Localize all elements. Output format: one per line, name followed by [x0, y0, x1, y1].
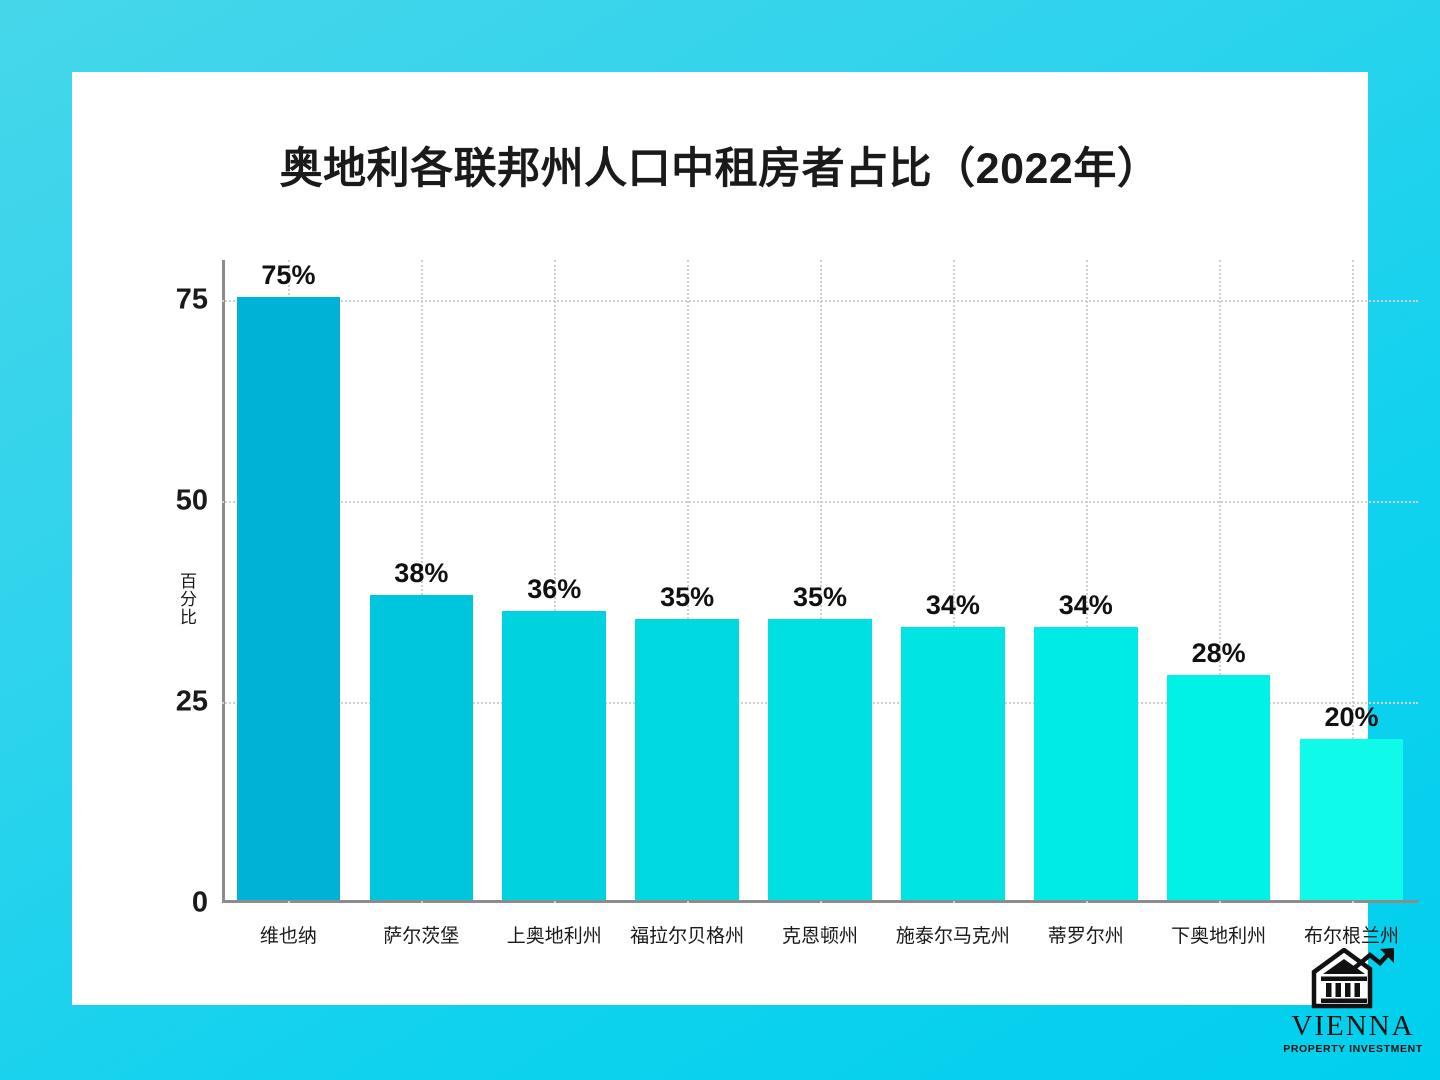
bar-5[interactable]: 35% [768, 619, 872, 900]
bar-value-label: 28% [1145, 638, 1293, 669]
bar-value-label: 38% [348, 558, 496, 589]
y-axis-tick-label: 75 [160, 284, 208, 317]
bar-1[interactable]: 75% [237, 297, 341, 900]
bar-value-label: 36% [480, 574, 628, 605]
x-axis-category-label: 上奥地利州 [488, 921, 621, 948]
page-title: 奥地利各联邦州人口中租房者占比（2022年） [72, 134, 1368, 196]
bar-value-label: 20% [1278, 702, 1426, 733]
bar-8[interactable]: 28% [1167, 675, 1271, 900]
bar-rect[interactable] [1300, 739, 1404, 900]
brand-logo: VIENNA PROPERTY INVESTMENT [1278, 948, 1428, 1060]
y-axis-title: 百分比 [174, 572, 199, 626]
bar-rect[interactable] [1034, 627, 1138, 900]
bar-value-label: 34% [1012, 590, 1160, 621]
bar-4[interactable]: 35% [635, 619, 739, 900]
bank-building-growth-arrow-icon [1310, 948, 1396, 1010]
y-axis-tick-label: 0 [160, 887, 208, 920]
bar-rect[interactable] [635, 619, 739, 900]
bar-9[interactable]: 20% [1300, 739, 1404, 900]
bar-2[interactable]: 38% [370, 595, 474, 900]
bar-6[interactable]: 34% [901, 627, 1005, 900]
x-axis-category-label: 施泰尔马克州 [886, 921, 1019, 948]
bar-value-label: 75% [215, 260, 363, 291]
bar-3[interactable]: 36% [502, 611, 606, 900]
x-axis-category-label: 维也纳 [222, 921, 355, 948]
bar-value-label: 34% [879, 590, 1027, 621]
y-axis-tick-label: 25 [160, 686, 208, 719]
bar-rect[interactable] [370, 595, 474, 900]
x-axis-category-label: 萨尔茨堡 [355, 921, 488, 948]
bar-rect[interactable] [502, 611, 606, 900]
x-axis-category-label: 下奥地利州 [1152, 921, 1285, 948]
y-axis-tick-label: 50 [160, 485, 208, 518]
bar-rect[interactable] [237, 297, 341, 900]
bar-rect[interactable] [1167, 675, 1271, 900]
y-axis-line [222, 260, 225, 903]
x-axis-category-label: 布尔根兰州 [1285, 921, 1418, 948]
chart-card: 奥地利各联邦州人口中租房者占比（2022年） 百分比 0255075 75%38… [72, 72, 1368, 1005]
x-axis-category-label: 克恩顿州 [754, 921, 887, 948]
bar-rect[interactable] [901, 627, 1005, 900]
logo-tagline: PROPERTY INVESTMENT [1278, 1043, 1428, 1055]
x-axis-category-label: 福拉尔贝格州 [621, 921, 754, 948]
bar-7[interactable]: 34% [1034, 627, 1138, 900]
x-axis-category-label: 蒂罗尔州 [1019, 921, 1152, 948]
bar-rect[interactable] [768, 619, 872, 900]
plot-area: 0255075 75%38%36%35%35%34%34%28%20% [222, 260, 1418, 903]
bar-value-label: 35% [746, 582, 894, 613]
logo-wordmark: VIENNA [1278, 1012, 1428, 1041]
bar-value-label: 35% [613, 582, 761, 613]
